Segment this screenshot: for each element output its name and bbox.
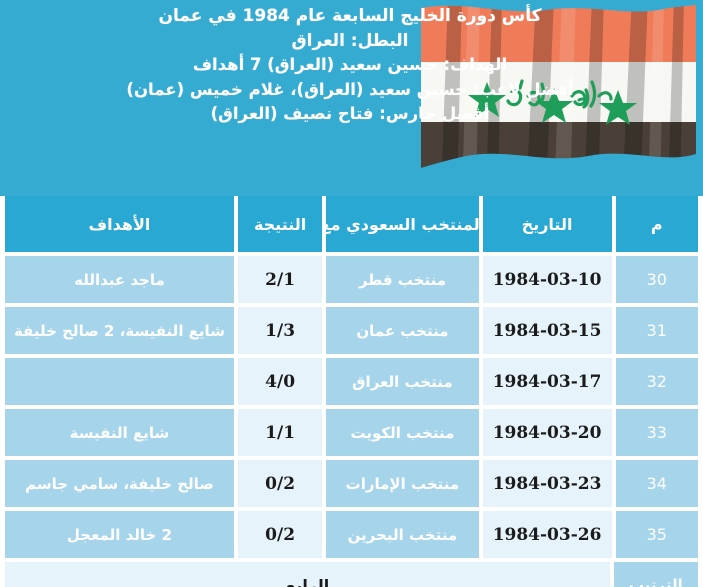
edge-spacer-left — [0, 256, 5, 303]
cell-score: 1/3 — [238, 307, 322, 354]
cell-goals: صالح خليفة، سامي جاسم — [5, 460, 234, 507]
edge-spacer-right — [698, 256, 703, 303]
cell-goals: شايع النفيسة — [5, 409, 234, 456]
column-divider — [234, 358, 238, 405]
column-divider — [234, 511, 238, 558]
cell-goals — [5, 358, 234, 405]
cell-no: 30 — [616, 256, 698, 303]
banner-line-2: البطل: العراق — [5, 29, 695, 54]
cell-date: 1984-03-10 — [483, 256, 612, 303]
column-header-score: النتيجة — [238, 196, 322, 252]
cell-team: منتخب قطر — [326, 256, 478, 303]
edge-spacer-left — [0, 511, 5, 558]
edge-spacer-left — [0, 196, 5, 252]
banner-line-1: كأس دورة الخليج السابعة عام 1984 في عمان — [5, 4, 695, 29]
column-divider — [612, 409, 616, 456]
cell-date: 1984-03-20 — [483, 409, 612, 456]
column-divider — [322, 307, 326, 354]
page-root: كأس دورة الخليج السابعة عام 1984 في عمان… — [0, 0, 703, 587]
edge-spacer-left — [0, 562, 5, 587]
table-row: 331984-03-20منتخب الكويت1/1شايع النفيسة — [0, 409, 703, 456]
cell-goals: ماجد عبدالله — [5, 256, 234, 303]
column-divider — [612, 511, 616, 558]
column-divider — [322, 196, 326, 252]
cell-score: 0/2 — [238, 460, 322, 507]
header-banner: كأس دورة الخليج السابعة عام 1984 في عمان… — [0, 0, 703, 196]
column-divider — [612, 460, 616, 507]
column-divider — [612, 358, 616, 405]
column-divider — [234, 196, 238, 252]
matches-table: م التاريخ المنتخب السعودي مع النتيجة الأ… — [0, 196, 703, 587]
column-divider — [234, 256, 238, 303]
column-divider — [479, 511, 483, 558]
edge-spacer-right — [698, 307, 703, 354]
column-header-date: التاريخ — [483, 196, 612, 252]
column-divider — [234, 460, 238, 507]
cell-date: 1984-03-26 — [483, 511, 612, 558]
table-row: 341984-03-23منتخب الإمارات0/2صالح خليفة،… — [0, 460, 703, 507]
cell-team: منتخب البحرين — [326, 511, 478, 558]
table-row: 351984-03-26منتخب البحرين0/22 خالد المعج… — [0, 511, 703, 558]
banner-line-4: أفضل لاعب: حسين سعيد (العراق)، غلام خميس… — [5, 78, 695, 103]
edge-spacer-right — [698, 358, 703, 405]
cell-goals: 2 خالد المعجل — [5, 511, 234, 558]
column-header-team: المنتخب السعودي مع — [326, 196, 478, 252]
column-header-goals: الأهداف — [5, 196, 234, 252]
column-divider — [322, 358, 326, 405]
column-divider — [234, 307, 238, 354]
column-divider — [322, 409, 326, 456]
cell-no: 33 — [616, 409, 698, 456]
column-header-no: م — [616, 196, 698, 252]
column-divider — [612, 196, 616, 252]
cell-no: 31 — [616, 307, 698, 354]
table-body: 301984-03-10منتخب قطر2/1ماجد عبدالله3119… — [0, 256, 703, 562]
edge-spacer-right — [698, 196, 703, 252]
cell-team: منتخب العراق — [326, 358, 478, 405]
column-divider — [479, 307, 483, 354]
cell-no: 35 — [616, 511, 698, 558]
footer-rank-label: الترتيب — [614, 562, 698, 587]
table-row: 301984-03-10منتخب قطر2/1ماجد عبدالله — [0, 256, 703, 303]
cell-date: 1984-03-15 — [483, 307, 612, 354]
edge-spacer-left — [0, 409, 5, 456]
table-footer-row: الترتيب الرابع — [0, 562, 703, 587]
edge-spacer-left — [0, 460, 5, 507]
cell-no: 34 — [616, 460, 698, 507]
banner-line-5: أفضل حارس: فتاح نصيف (العراق) — [5, 102, 695, 127]
edge-spacer-left — [0, 358, 5, 405]
column-divider — [322, 256, 326, 303]
footer-rank-value: الرابع — [5, 562, 610, 587]
cell-score: 2/1 — [238, 256, 322, 303]
column-divider — [479, 460, 483, 507]
column-divider — [612, 256, 616, 303]
cell-score: 1/1 — [238, 409, 322, 456]
table-row: 321984-03-17منتخب العراق4/0 — [0, 358, 703, 405]
column-divider — [479, 196, 483, 252]
cell-team: منتخب الكويت — [326, 409, 478, 456]
column-divider — [322, 460, 326, 507]
cell-score: 0/2 — [238, 511, 322, 558]
edge-spacer-right — [698, 409, 703, 456]
cell-goals: شايع النفيسة، 2 صالح خليفة — [5, 307, 234, 354]
edge-spacer-left — [0, 307, 5, 354]
edge-spacer-right — [698, 562, 703, 587]
cell-date: 1984-03-17 — [483, 358, 612, 405]
cell-date: 1984-03-23 — [483, 460, 612, 507]
column-divider — [234, 409, 238, 456]
banner-line-3: الهداف: حسين سعيد (العراق) 7 أهداف — [5, 53, 695, 78]
edge-spacer-right — [698, 460, 703, 507]
column-divider — [479, 409, 483, 456]
edge-spacer-right — [698, 511, 703, 558]
table-header-row: م التاريخ المنتخب السعودي مع النتيجة الأ… — [0, 196, 703, 252]
cell-team: منتخب الإمارات — [326, 460, 478, 507]
table-row: 311984-03-15منتخب عمان1/3شايع النفيسة، 2… — [0, 307, 703, 354]
banner-title-block: كأس دورة الخليج السابعة عام 1984 في عمان… — [5, 4, 695, 127]
cell-score: 4/0 — [238, 358, 322, 405]
cell-no: 32 — [616, 358, 698, 405]
column-divider — [479, 358, 483, 405]
column-divider — [610, 562, 614, 587]
cell-team: منتخب عمان — [326, 307, 478, 354]
column-divider — [612, 307, 616, 354]
column-divider — [479, 256, 483, 303]
column-divider — [322, 511, 326, 558]
